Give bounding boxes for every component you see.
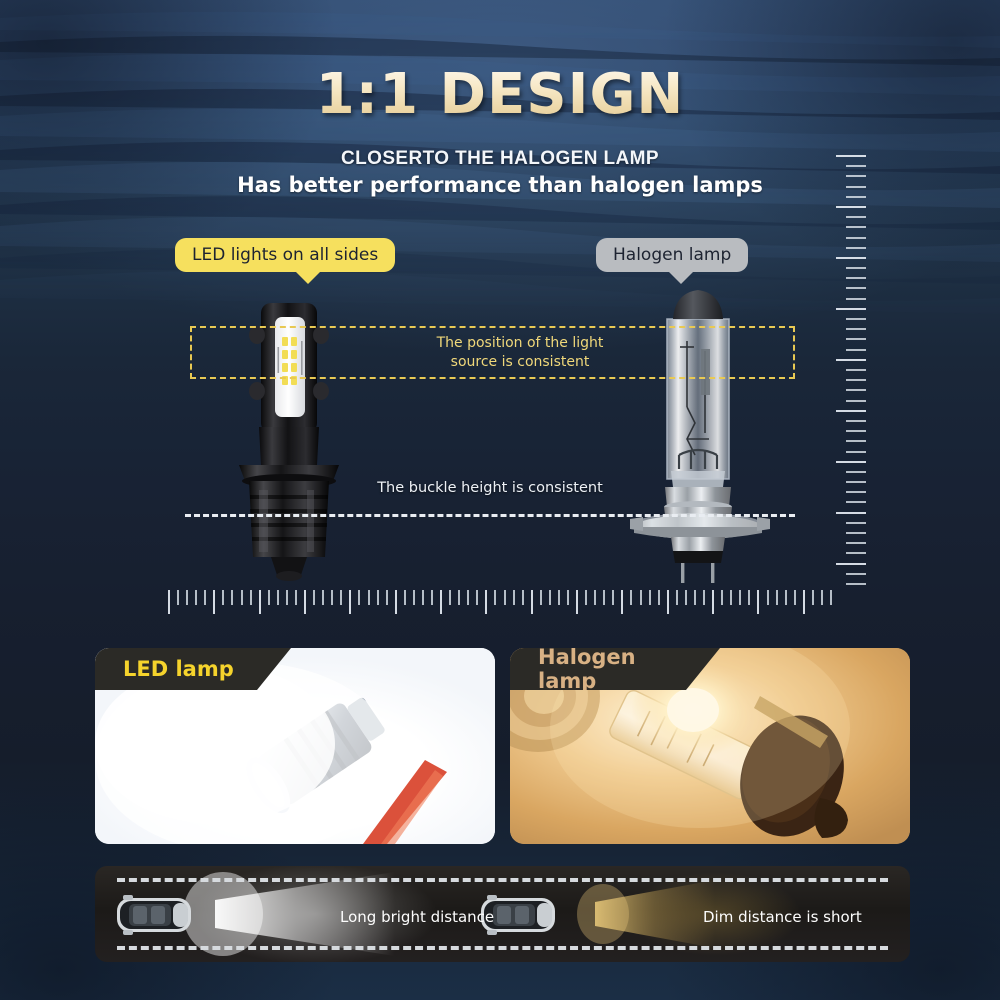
road-caption-led: Long bright distance <box>340 908 494 926</box>
ruler-tick <box>585 590 587 605</box>
ruler-tick <box>846 298 866 300</box>
ruler-tick <box>241 590 243 605</box>
road-dash-bottom <box>117 946 888 950</box>
road-comparison-strip: Long bright distance Dim distance is sho… <box>95 866 910 962</box>
ruler-tick <box>836 461 866 463</box>
ruler-tick <box>846 532 866 534</box>
callout-led-tail <box>295 271 321 284</box>
ruler-tick <box>846 491 866 493</box>
ruler-tick <box>846 196 866 198</box>
ruler-tick <box>467 590 469 605</box>
ruler-tick <box>721 590 723 605</box>
ruler-tick <box>812 590 814 605</box>
ruler-tick <box>846 247 866 249</box>
ruler-tick <box>368 590 370 605</box>
ruler-tick <box>836 206 866 208</box>
ruler-tick <box>767 590 769 605</box>
buckle-height-caption: The buckle height is consistent <box>330 480 650 496</box>
ruler-tick <box>836 308 866 310</box>
ruler-tick <box>331 590 333 605</box>
ruler-tick <box>803 590 805 614</box>
ruler-tick <box>846 328 866 330</box>
ruler-tick <box>295 590 297 605</box>
ruler-tick <box>231 590 233 605</box>
infographic-canvas: 1:1 DESIGN CLOSERTO THE HALOGEN LAMP Has… <box>0 0 1000 1000</box>
ruler-tick <box>513 590 515 605</box>
ruler-tick <box>846 175 866 177</box>
ruler-tick <box>259 590 261 614</box>
ruler-tick <box>776 590 778 605</box>
callout-led-lights: LED lights on all sides <box>175 238 395 272</box>
ruler-tick <box>730 590 732 605</box>
ruler-tick <box>621 590 623 614</box>
light-source-caption: The position of the light source is cons… <box>400 334 640 372</box>
ruler-tick <box>685 590 687 605</box>
ruler-tick <box>712 590 714 614</box>
ruler-tick <box>836 512 866 514</box>
ruler-tick <box>836 155 866 157</box>
ruler-tick <box>340 590 342 605</box>
ruler-tick <box>213 590 215 614</box>
ruler-tick <box>222 590 224 605</box>
ruler-tick <box>549 590 551 605</box>
ruler-tick <box>836 359 866 361</box>
ruler-tick <box>186 590 188 605</box>
ruler-tick <box>846 573 866 575</box>
callout-halogen-tail <box>668 271 694 284</box>
ruler-tick <box>195 590 197 605</box>
ruler-tick <box>594 590 596 605</box>
ruler-tick <box>846 420 866 422</box>
ruler-tick <box>694 590 696 605</box>
ruler-tick <box>846 481 866 483</box>
ruler-tick <box>286 590 288 605</box>
ruler-tick <box>846 389 866 391</box>
ruler-tick <box>739 590 741 605</box>
ruler-tick <box>576 590 578 614</box>
ruler-tick <box>322 590 324 605</box>
ruler-tick <box>785 590 787 605</box>
ruler-tick <box>846 165 866 167</box>
ruler-tick <box>846 226 866 228</box>
page-title: 1:1 DESIGN <box>0 62 1000 127</box>
ruler-tick <box>304 590 306 614</box>
ruler-tick <box>846 287 866 289</box>
ruler-tick <box>676 590 678 605</box>
ruler-tick <box>836 563 866 565</box>
ruler-tick <box>377 590 379 605</box>
ruler-tick <box>846 338 866 340</box>
ruler-tick <box>612 590 614 605</box>
ruler-tick <box>748 590 750 605</box>
ruler-tick <box>846 583 866 585</box>
ruler-tick <box>830 590 832 605</box>
ruler-tick <box>846 277 866 279</box>
ruler-tick <box>168 590 170 614</box>
ruler-tick <box>846 369 866 371</box>
ruler-tick <box>567 590 569 605</box>
ruler-tick <box>846 318 866 320</box>
ruler-tick <box>846 522 866 524</box>
road-dash-top <box>117 878 888 882</box>
ruler-tick <box>349 590 351 614</box>
vertical-ruler <box>820 155 866 585</box>
ruler-tick <box>846 267 866 269</box>
ruler-tick <box>422 590 424 605</box>
halogen-panel-tab-label: Halogen lamp <box>538 648 674 693</box>
ruler-tick <box>413 590 415 605</box>
ruler-tick <box>836 257 866 259</box>
ruler-tick <box>821 590 823 605</box>
ruler-tick <box>449 590 451 605</box>
ruler-tick <box>846 430 866 432</box>
ruler-tick <box>649 590 651 605</box>
ruler-tick <box>431 590 433 605</box>
ruler-tick <box>846 379 866 381</box>
callout-halogen-lamp: Halogen lamp <box>596 238 748 272</box>
halogen-panel-tab: Halogen lamp <box>510 648 720 690</box>
ruler-tick <box>522 590 524 605</box>
ruler-tick <box>846 542 866 544</box>
ruler-tick <box>250 590 252 605</box>
ruler-tick <box>204 590 206 605</box>
ruler-tick <box>846 440 866 442</box>
callout-halogen-label: Halogen lamp <box>613 245 731 265</box>
ruler-tick <box>667 590 669 614</box>
ruler-tick <box>358 590 360 605</box>
ruler-tick <box>846 552 866 554</box>
ruler-tick <box>630 590 632 605</box>
callout-led-label: LED lights on all sides <box>192 245 378 265</box>
ruler-tick <box>395 590 397 614</box>
ruler-tick <box>757 590 759 614</box>
ruler-tick <box>540 590 542 605</box>
ruler-tick <box>846 237 866 239</box>
ruler-tick <box>836 410 866 412</box>
ruler-tick <box>846 501 866 503</box>
ruler-tick <box>846 400 866 402</box>
ruler-tick <box>485 590 487 614</box>
ruler-tick <box>846 451 866 453</box>
ruler-tick <box>846 471 866 473</box>
car-top-view-icon <box>113 893 199 937</box>
ruler-tick <box>386 590 388 605</box>
ruler-tick <box>404 590 406 605</box>
led-lamp-photo-panel: LED lamp <box>95 648 495 844</box>
ruler-tick <box>846 186 866 188</box>
ruler-tick <box>640 590 642 605</box>
ruler-tick <box>846 216 866 218</box>
ruler-tick <box>603 590 605 605</box>
ruler-tick <box>703 590 705 605</box>
ruler-tick <box>313 590 315 605</box>
ruler-tick <box>504 590 506 605</box>
ruler-tick <box>177 590 179 605</box>
ruler-tick <box>794 590 796 605</box>
ruler-tick <box>458 590 460 605</box>
ruler-tick <box>531 590 533 614</box>
ruler-tick <box>268 590 270 605</box>
ruler-tick <box>494 590 496 605</box>
ruler-tick <box>440 590 442 614</box>
horizontal-ruler <box>168 590 832 620</box>
halogen-lamp-photo-panel: Halogen lamp <box>510 648 910 844</box>
ruler-tick <box>558 590 560 605</box>
ruler-tick <box>476 590 478 605</box>
buckle-height-line <box>185 514 795 517</box>
ruler-tick <box>846 349 866 351</box>
led-panel-tab-label: LED lamp <box>123 657 234 681</box>
light-source-caption-line2: source is consistent <box>400 353 640 372</box>
ruler-tick <box>658 590 660 605</box>
ruler-tick <box>277 590 279 605</box>
light-source-caption-line1: The position of the light <box>400 334 640 353</box>
road-caption-halogen: Dim distance is short <box>703 908 862 926</box>
led-panel-tab: LED lamp <box>95 648 291 690</box>
